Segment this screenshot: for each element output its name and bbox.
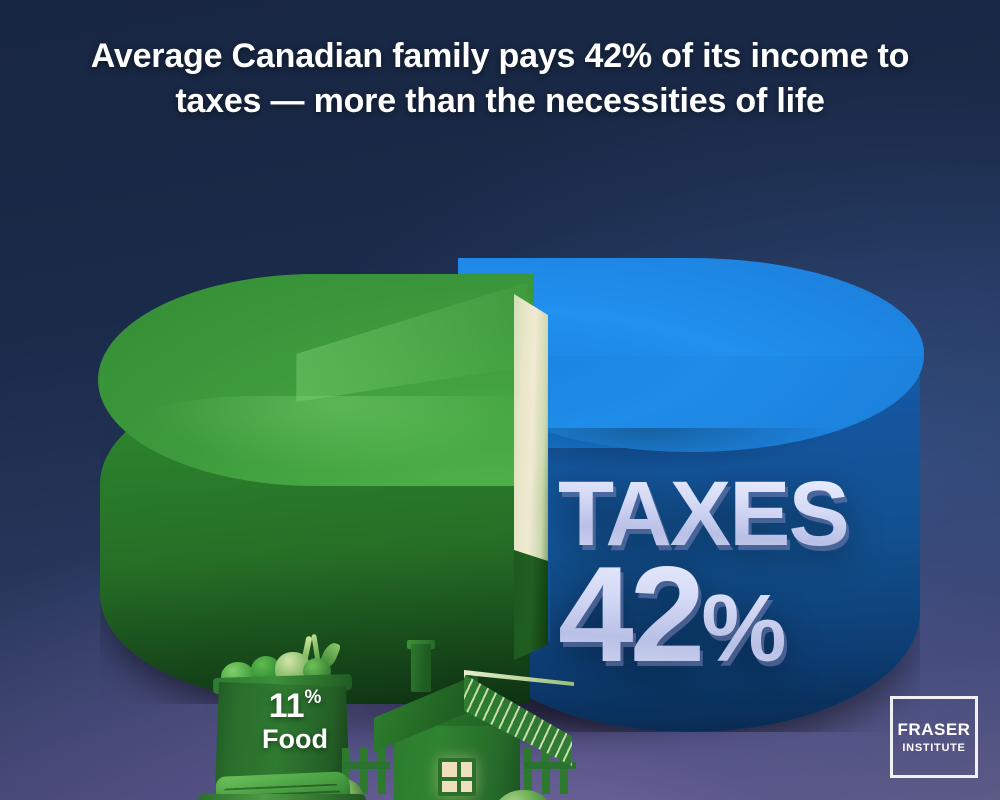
food-value: 11 [269,689,305,724]
title-line-1: Average Canadian family pays 42% of its … [46,34,954,79]
taxes-hero-value: 42% [558,557,918,671]
house-icon [378,630,568,800]
title-line-2: taxes — more than the necessities of lif… [46,79,954,124]
fraser-institute-logo: FRASER INSTITUTE [890,696,978,778]
necessities-slice-cut-face [514,294,548,594]
taxes-hero-symbol: % [701,575,782,682]
food-percent-symbol: % [305,687,322,708]
food-name: Food [235,726,355,754]
slice-label-food: 11% Food [235,688,355,753]
necessities-slice-highlight [120,396,520,476]
infographic-canvas: Average Canadian family pays 42% of its … [0,0,1000,800]
pie-chart: TAXES 42% 11% Food 2% Clothing 22% Housi… [60,300,940,770]
potted-bush-icon [492,790,558,800]
logo-line-1: FRASER [898,720,971,740]
taxes-hero-number: 42 [558,538,701,690]
house-window-icon [438,758,476,796]
page-title: Average Canadian family pays 42% of its … [0,34,1000,124]
laundry-basket-icon [202,780,362,800]
logo-line-2: INSTITUTE [902,742,965,754]
taxes-hero-label: TAXES 42% [558,476,918,696]
